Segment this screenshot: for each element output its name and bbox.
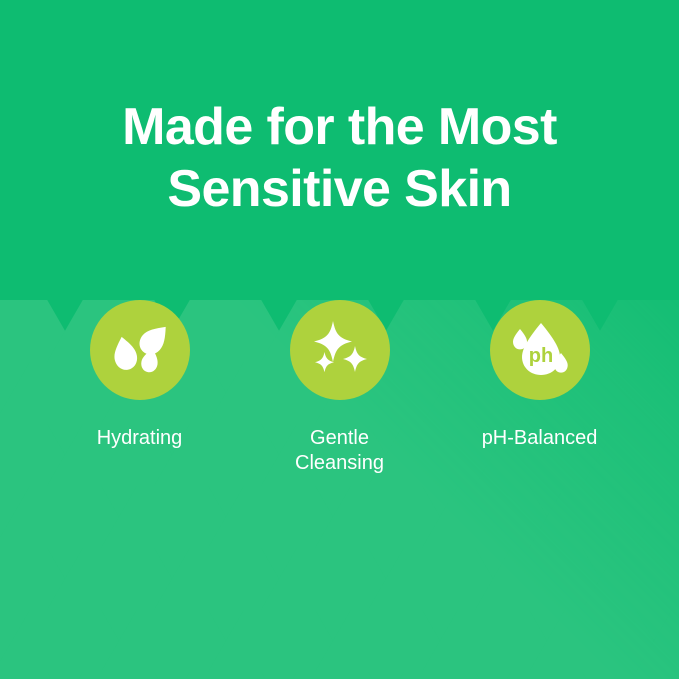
feature-icon-badge [290, 300, 390, 400]
feature-label: pH-Balanced [482, 426, 598, 451]
water-droplets-icon [109, 319, 171, 382]
feature-label: Hydrating [97, 426, 183, 451]
feature-icon-badge [90, 300, 190, 400]
feature-item-gentle-cleansing: Gentle Cleansing [240, 300, 440, 476]
sparkles-icon [310, 319, 370, 382]
ph-icon-text: ph [528, 345, 552, 367]
feature-list: Hydrating Gentle Cleansing [0, 300, 679, 476]
feature-label: Gentle Cleansing [295, 426, 384, 476]
page-title: Made for the Most Sensitive Skin [0, 96, 679, 220]
product-feature-banner: Made for the Most Sensitive Skin Hydrati… [0, 0, 679, 679]
feature-icon-badge: ph [490, 300, 590, 400]
feature-item-hydrating: Hydrating [40, 300, 240, 451]
ph-droplet-icon: ph [510, 319, 570, 382]
feature-item-ph-balanced: ph pH-Balanced [440, 300, 640, 451]
